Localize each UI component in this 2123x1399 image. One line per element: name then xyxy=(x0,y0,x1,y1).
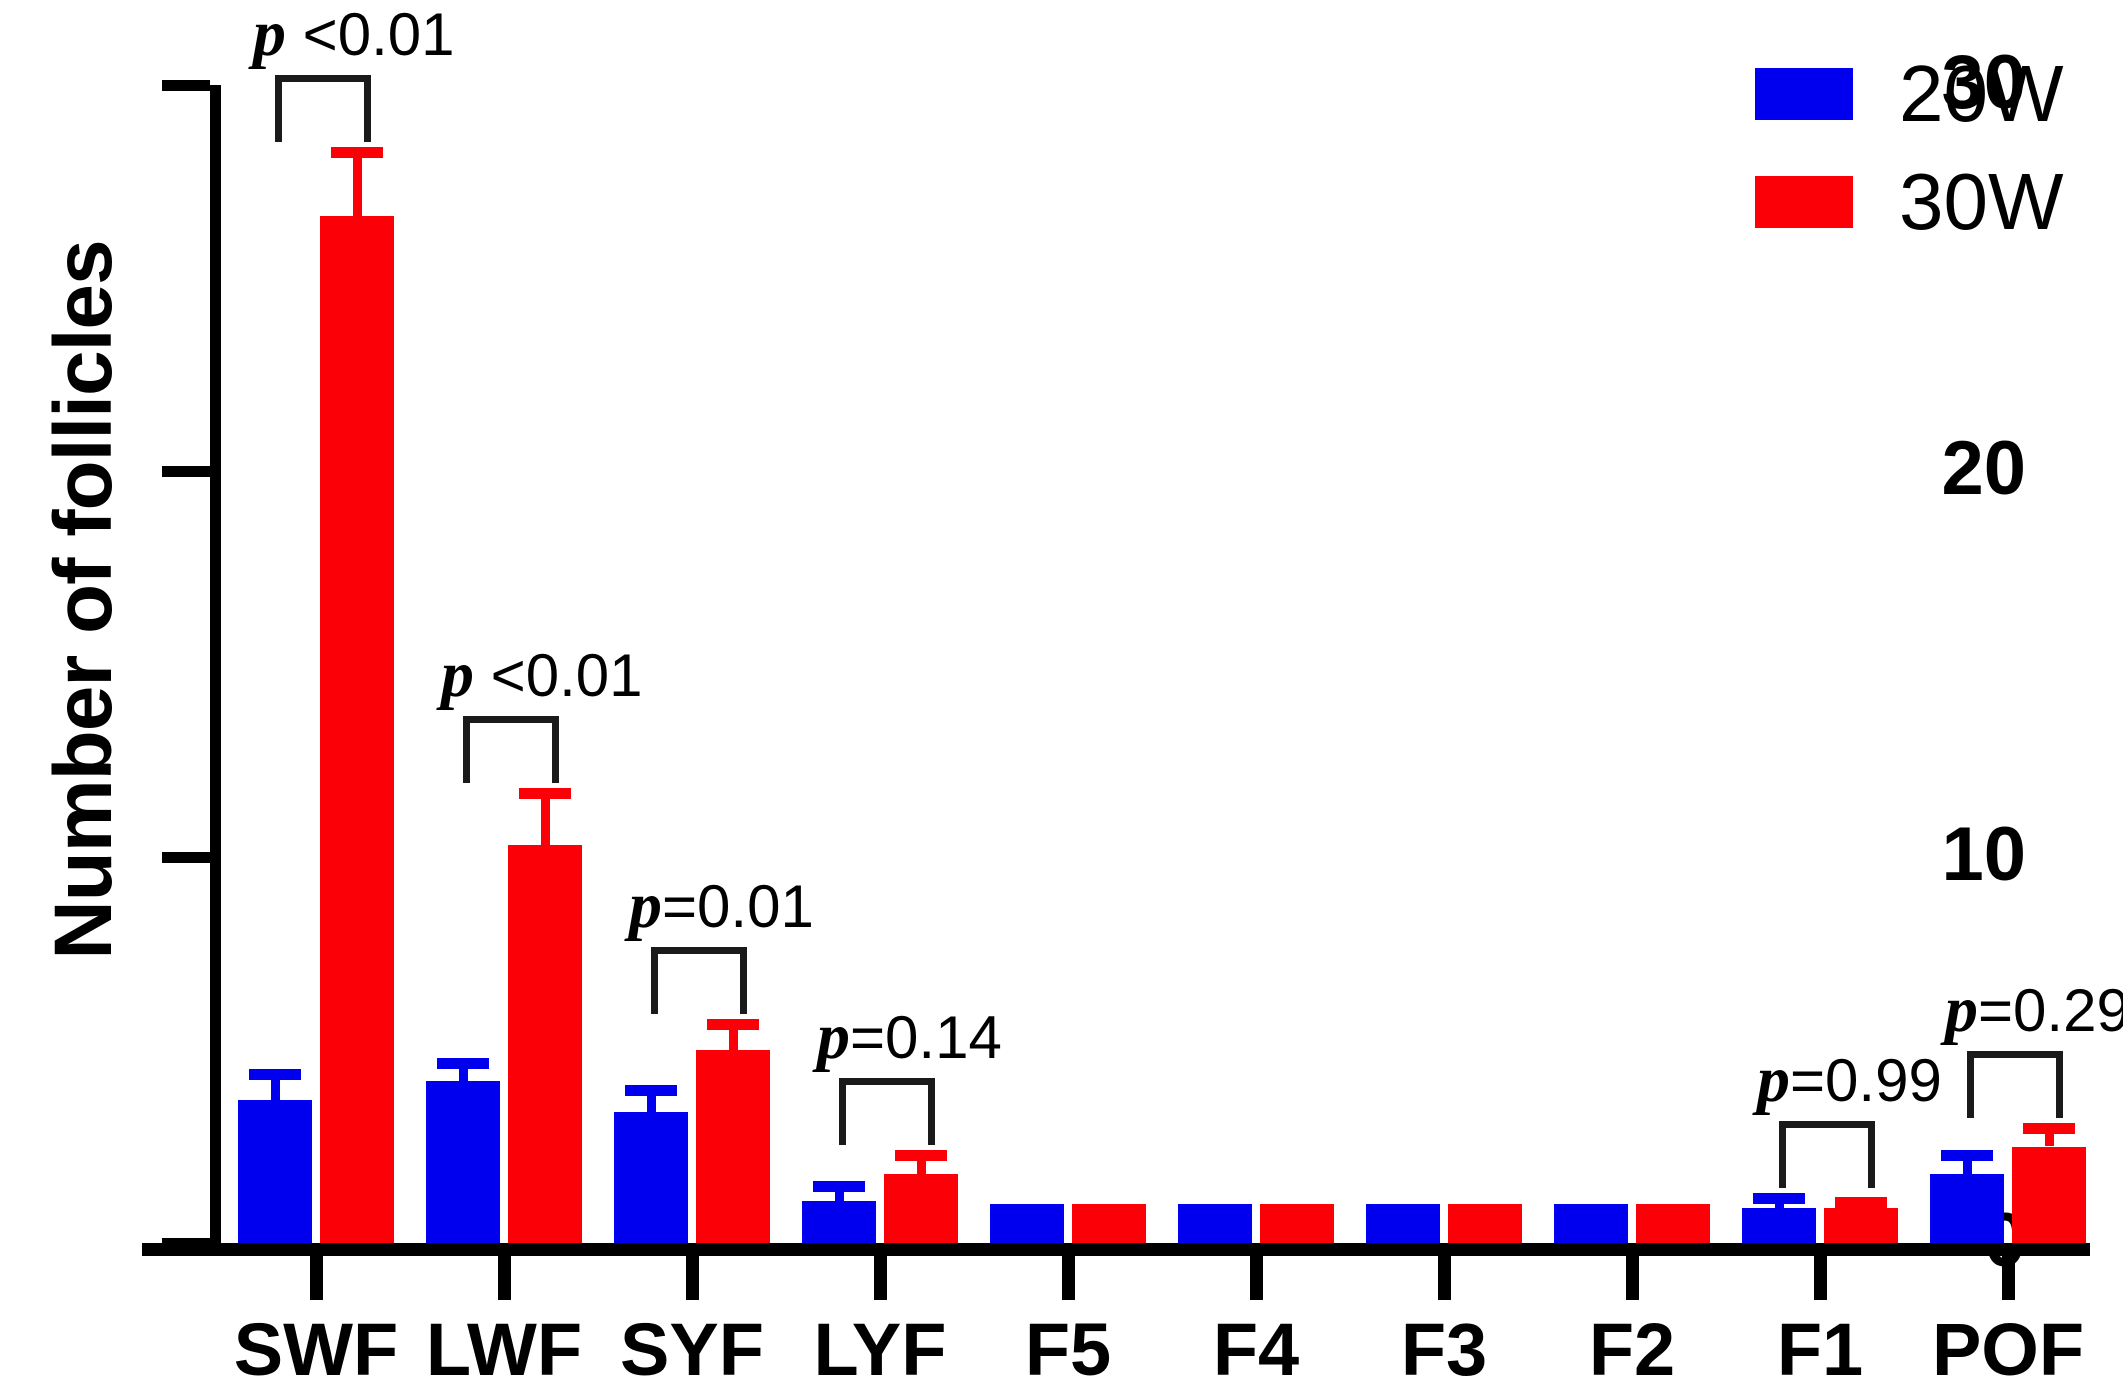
x-axis-line xyxy=(142,1243,2090,1256)
bar-lyf-20w xyxy=(802,1201,876,1243)
y-tick-mark xyxy=(162,1238,210,1249)
bar-f5-30w xyxy=(1072,1204,1146,1243)
y-axis-label: Number of follicles xyxy=(37,160,131,1040)
legend-item-30w: 30W xyxy=(1755,148,2064,256)
x-tick-mark xyxy=(310,1256,323,1300)
bar-f3-20w xyxy=(1366,1204,1440,1243)
error-bar-cap xyxy=(437,1058,489,1069)
error-bar-cap xyxy=(249,1069,301,1080)
legend-label-30w: 30W xyxy=(1899,162,2064,242)
bar-f4-20w xyxy=(1178,1204,1252,1243)
p-value-label-swf: p <0.01 xyxy=(253,1,455,67)
error-bar-cap xyxy=(625,1085,677,1096)
p-symbol: p xyxy=(441,638,474,711)
error-bar-cap xyxy=(2023,1123,2075,1134)
y-tick-mark xyxy=(162,466,210,477)
p-value-text: <0.01 xyxy=(286,1,455,68)
p-value-label-lwf: p <0.01 xyxy=(441,642,643,708)
y-tick-mark xyxy=(162,852,210,863)
x-tick-mark xyxy=(686,1256,699,1300)
x-tick-mark xyxy=(1062,1256,1075,1300)
p-value-text: <0.01 xyxy=(474,642,643,709)
bar-chart-figure: Number of follicles 0102030 SWFLWFSYFLYF… xyxy=(0,0,2123,1399)
p-value-text: =0.29 xyxy=(1978,977,2123,1044)
bar-lwf-30w xyxy=(508,845,582,1243)
chart-legend: 20W 30W xyxy=(1755,40,2064,256)
legend-label-20w: 20W xyxy=(1899,54,2064,134)
bar-syf-20w xyxy=(614,1112,688,1243)
error-bar-cap xyxy=(1835,1197,1887,1208)
bar-pof-30w xyxy=(2012,1147,2086,1244)
bar-f2-20w xyxy=(1554,1204,1628,1243)
p-symbol: p xyxy=(629,869,662,942)
p-value-label-pof: p=0.29 xyxy=(1945,977,2123,1043)
bar-swf-30w xyxy=(320,216,394,1243)
bar-lwf-20w xyxy=(426,1081,500,1243)
bar-f2-30w xyxy=(1636,1204,1710,1243)
p-value-text: =0.99 xyxy=(1790,1047,1942,1114)
error-bar-cap xyxy=(519,788,571,799)
bar-pof-20w xyxy=(1930,1174,2004,1243)
p-value-text: =0.14 xyxy=(850,1004,1002,1071)
p-symbol: p xyxy=(253,0,286,70)
p-value-label-syf: p=0.01 xyxy=(629,873,814,939)
p-value-label-lyf: p=0.14 xyxy=(817,1004,1002,1070)
significance-bracket-lyf xyxy=(839,1078,935,1145)
legend-item-20w: 20W xyxy=(1755,40,2064,148)
bar-f4-30w xyxy=(1260,1204,1334,1243)
error-bar-cap xyxy=(707,1019,759,1030)
error-bar-cap xyxy=(1941,1150,1993,1161)
bar-f3-30w xyxy=(1448,1204,1522,1243)
legend-swatch-20w-icon xyxy=(1755,68,1853,120)
x-tick-mark xyxy=(498,1256,511,1300)
p-value-text: =0.01 xyxy=(662,873,814,940)
significance-bracket-syf xyxy=(651,947,747,1014)
error-bar-cap xyxy=(331,147,383,158)
significance-bracket-swf xyxy=(275,75,371,142)
p-value-label-f1: p=0.99 xyxy=(1757,1047,1942,1113)
x-tick-mark xyxy=(874,1256,887,1300)
error-bar-cap xyxy=(813,1181,865,1192)
significance-bracket-lwf xyxy=(463,716,559,783)
error-bar-cap xyxy=(895,1150,947,1161)
legend-swatch-30w-icon xyxy=(1755,176,1853,228)
y-tick-label: 20 xyxy=(1806,431,2026,507)
bar-f1-30w xyxy=(1824,1208,1898,1243)
bar-syf-30w xyxy=(696,1050,770,1243)
y-tick-mark xyxy=(162,80,210,91)
x-tick-mark xyxy=(1814,1256,1827,1300)
bar-swf-20w xyxy=(238,1100,312,1243)
p-symbol: p xyxy=(1757,1043,1790,1116)
x-tick-mark xyxy=(2002,1256,2015,1300)
bar-f5-20w xyxy=(990,1204,1064,1243)
x-tick-mark xyxy=(1250,1256,1263,1300)
p-symbol: p xyxy=(817,1000,850,1073)
significance-bracket-f1 xyxy=(1779,1121,1875,1188)
y-tick-label: 10 xyxy=(1806,817,2026,893)
error-bar-cap xyxy=(1753,1193,1805,1204)
x-tick-label-pof: POF xyxy=(1878,1307,2123,1392)
x-tick-mark xyxy=(1626,1256,1639,1300)
bar-lyf-30w xyxy=(884,1174,958,1243)
significance-bracket-pof xyxy=(1967,1051,2063,1118)
x-tick-mark xyxy=(1438,1256,1451,1300)
bar-f1-20w xyxy=(1742,1208,1816,1243)
p-symbol: p xyxy=(1945,973,1978,1046)
plot-area: 0102030 SWFLWFSYFLYFF5F4F3F2F1POF p <0.0… xyxy=(210,85,2090,1243)
y-axis-line xyxy=(210,85,221,1243)
